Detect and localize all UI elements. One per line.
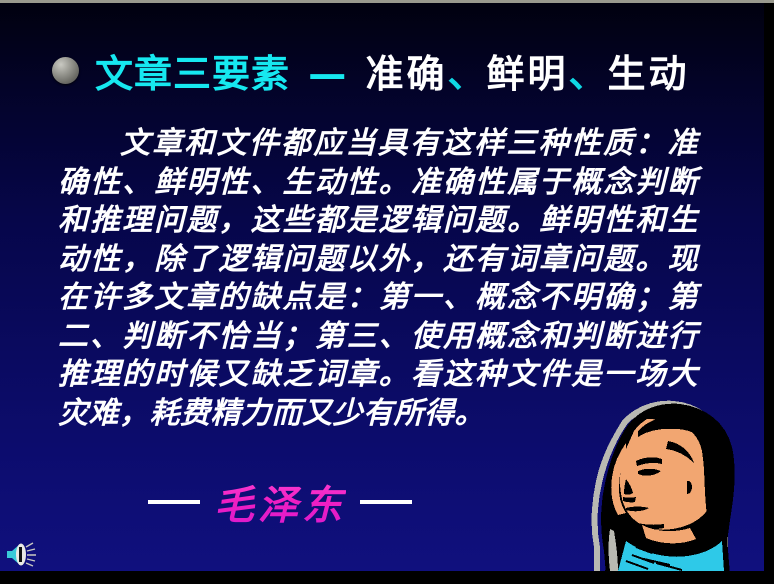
page-title: 文章三要素 — 准确、鲜明、生动 [95,45,690,103]
attribution-name: 毛泽东 [214,473,346,531]
attribution-rule-right [360,500,412,504]
title-secondary-3: 生动 [608,52,690,96]
title-secondary-2: 鲜明 [487,52,569,96]
speaker-sound-icon[interactable] [5,540,39,568]
title-punct-2: 、 [569,52,608,96]
attribution-rule-left [148,500,200,504]
attribution-line: 毛泽东 [0,473,560,531]
slide-body-paragraph: 文章和文件都应当具有这样三种性质：准确性、鲜明性、生动性。准确性属于概念判断和推… [58,125,698,433]
presentation-slide: 文章三要素 — 准确、鲜明、生动 文章和文件都应当具有这样三种性质：准确性、鲜明… [0,0,774,584]
title-primary: 文章三要素 [95,52,290,96]
title-punct-1: 、 [448,52,487,96]
window-top-rule [0,0,774,3]
slide-title-row: 文章三要素 — 准确、鲜明、生动 [0,45,764,103]
window-right-border [764,0,774,584]
window-bottom-border [0,571,774,584]
gray-sphere-bullet-icon [52,57,79,84]
title-dash-icon: — [304,52,351,96]
slide-canvas: 文章三要素 — 准确、鲜明、生动 文章和文件都应当具有这样三种性质：准确性、鲜明… [0,3,764,571]
title-secondary-1: 准确 [365,52,447,96]
